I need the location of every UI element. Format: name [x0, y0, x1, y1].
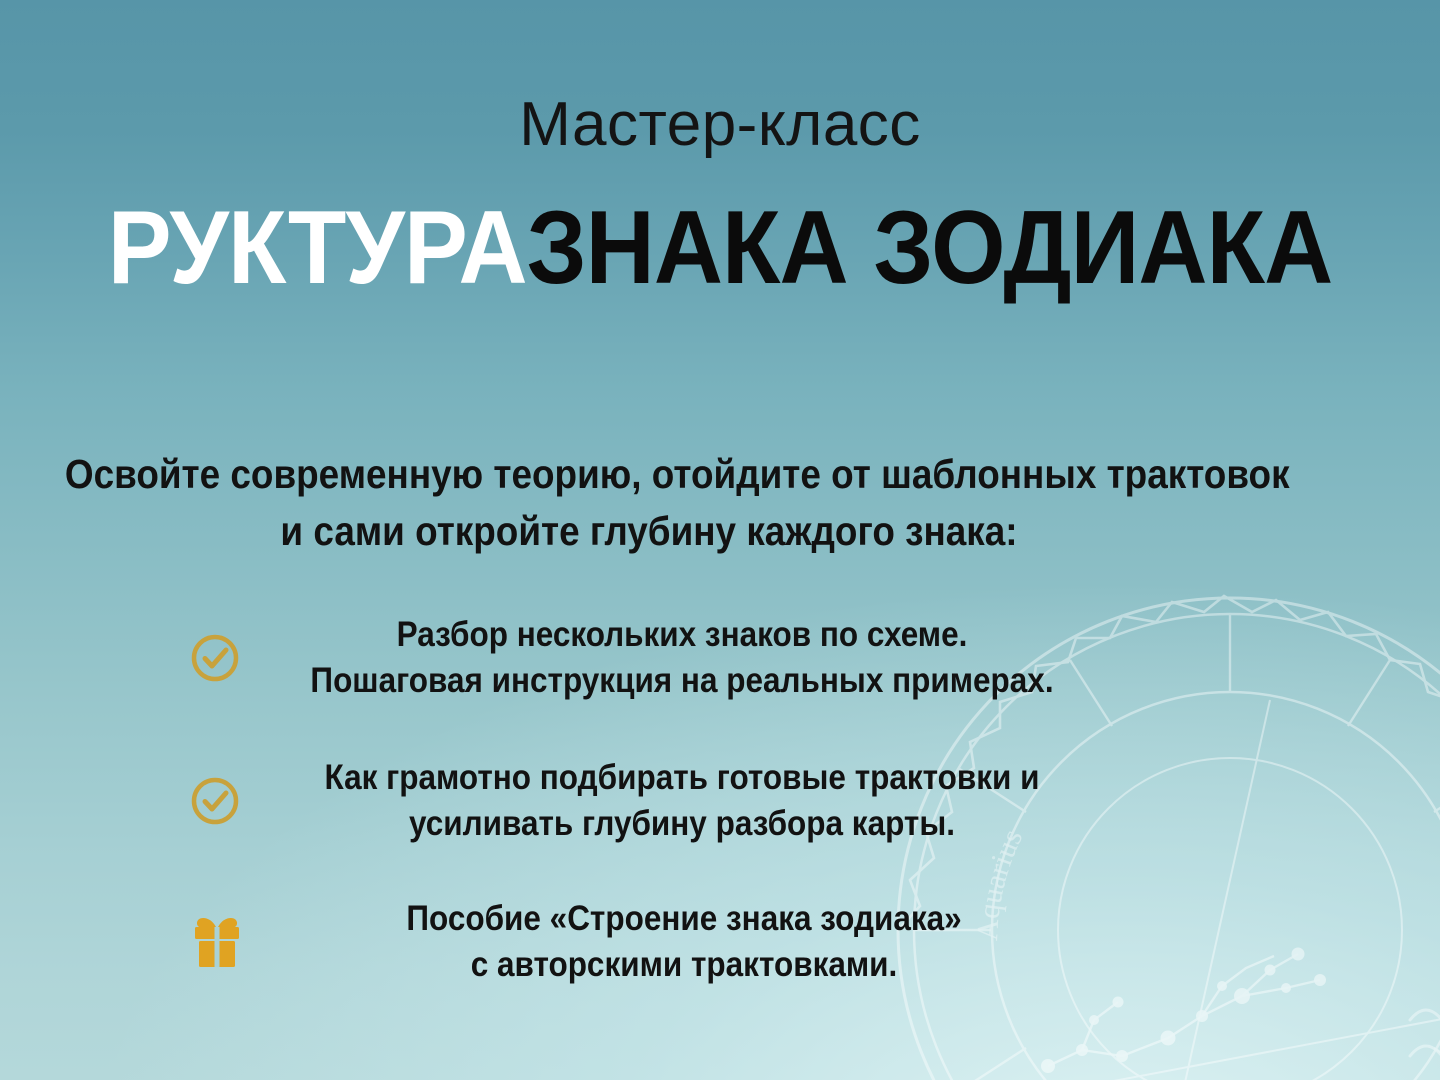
list-item-line-2: усиливать глубину разбора карты. [300, 801, 1063, 847]
check-circle-icon [186, 629, 244, 687]
subtitle-line-1: Освойте современную теорию, отойдите от … [65, 446, 1233, 503]
list-item-line-1: Пособие «Строение знака зодиака» [304, 896, 1064, 942]
page-title-part-black: ЗНАКА ЗОДИАКА [527, 190, 1333, 306]
list-item-text: Разбор нескольких знаков по схеме. Пошаг… [300, 612, 1063, 703]
list-item: Пособие «Строение знака зодиака» с автор… [186, 896, 1106, 987]
gift-icon [186, 913, 248, 971]
list-item-line-1: Разбор нескольких знаков по схеме. [300, 612, 1063, 658]
list-item: Разбор нескольких знаков по схеме. Пошаг… [186, 612, 1106, 703]
list-item-line-2: Пошаговая инструкция на реальных примера… [300, 658, 1063, 704]
aquarius-glyph-icon [1410, 1010, 1440, 1066]
list-item-line-1: Как грамотно подбирать готовые трактовки… [300, 755, 1063, 801]
list-item-line-2: с авторскими трактовками. [304, 942, 1064, 988]
list-item: Как грамотно подбирать готовые трактовки… [186, 755, 1106, 846]
page-title: РУКТУРАЗНАКА ЗОДИАКА [58, 196, 1383, 300]
list-item-text: Как грамотно подбирать готовые трактовки… [300, 755, 1063, 846]
subtitle-line-2: и сами откройте глубину каждого знака: [65, 503, 1233, 560]
page-title-part-white: РУКТУРА [108, 190, 527, 306]
subtitle: Освойте современную теорию, отойдите от … [65, 446, 1233, 559]
eyebrow-label: Мастер-класс [0, 92, 1440, 157]
benefits-list: Разбор нескольких знаков по схеме. Пошаг… [186, 612, 1106, 987]
slide-canvas: Aquarius Мастер-класс РУКТУРАЗНАКА ЗОДИА… [0, 0, 1440, 1080]
list-item-text: Пособие «Строение знака зодиака» с автор… [304, 896, 1064, 987]
check-circle-icon [186, 772, 244, 830]
